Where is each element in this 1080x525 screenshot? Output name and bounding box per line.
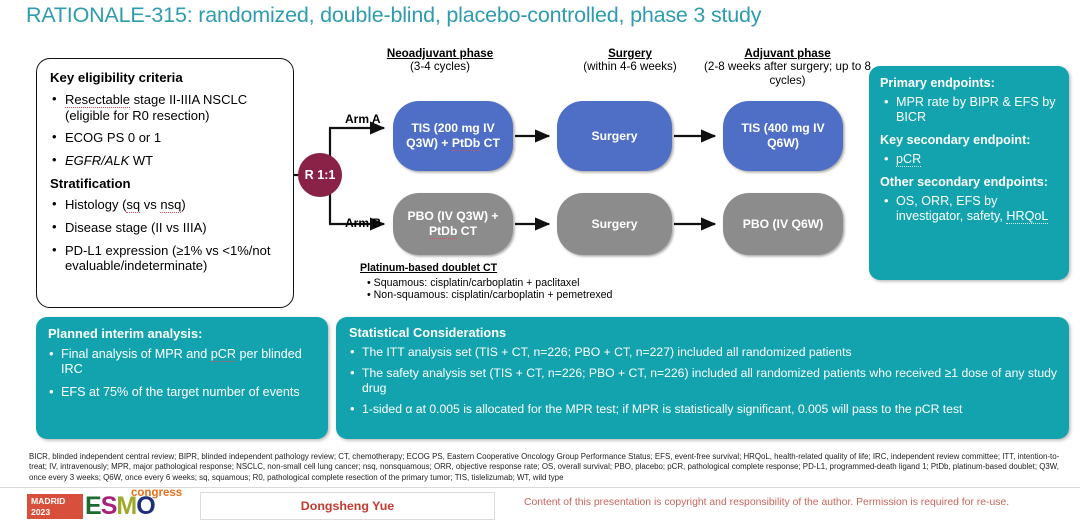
other-secondary-list: OS, ORR, EFS by investigator, safety, HR…	[880, 194, 1059, 224]
phase-header-adjuvant: Adjuvant phase (2-8 weeks after surgery;…	[700, 47, 875, 87]
eligibility-heading: Key eligibility criteria	[50, 70, 282, 85]
stratification-heading: Stratification	[50, 176, 282, 191]
primary-endpoints-list: MPR rate by BIPR & EFS by BICR	[880, 95, 1059, 125]
list-item: ECOG PS 0 or 1	[48, 130, 282, 146]
list-item: Final analysis of MPR and pCR per blinde…	[48, 347, 318, 378]
list-item: Resectable stage II-IIIA NSCLC (eligible…	[48, 92, 282, 123]
logo-congress-text: congress	[131, 487, 182, 499]
node-arm-b-neoadjuvant: PBO (IV Q3W) + PtDb CT	[393, 193, 513, 255]
list-item: EFS at 75% of the target number of event…	[48, 385, 318, 400]
key-secondary-heading: Key secondary endpoint:	[880, 133, 1059, 147]
phase-title: Surgery	[560, 47, 700, 60]
node-arm-b-surgery: Surgery	[557, 193, 672, 255]
statistics-list: The ITT analysis set (TIS + CT, n=226; P…	[349, 345, 1057, 417]
primary-endpoints-heading: Primary endpoints:	[880, 76, 1059, 90]
page-title: RATIONALE-315: randomized, double-blind,…	[26, 3, 761, 28]
esmo-congress-logo: MADRID 2023 ESMO congress	[27, 489, 177, 521]
arm-a-label: Arm A	[345, 112, 381, 126]
phase-subtitle: (within 4-6 weeks)	[560, 60, 700, 73]
endpoints-panel: Primary endpoints: MPR rate by BIPR & EF…	[869, 66, 1069, 280]
copyright-notice: Content of this presentation is copyrigh…	[524, 497, 1009, 508]
platinum-doublet-note: Platinum-based doublet CT Squamous: cisp…	[360, 262, 612, 302]
list-item: MPR rate by BIPR & EFS by BICR	[880, 95, 1059, 125]
phase-title: Neoadjuvant phase	[370, 47, 510, 60]
interim-list: Final analysis of MPR and pCR per blinde…	[48, 347, 318, 400]
key-secondary-list: pCR	[880, 152, 1059, 167]
randomization-node: R 1:1	[298, 153, 342, 197]
list-item: pCR	[880, 152, 1059, 167]
node-arm-a-neoadjuvant: TIS (200 mg IV Q3W) + PtDb CT	[393, 101, 513, 171]
statistical-considerations-panel: Statistical Considerations The ITT analy…	[336, 317, 1069, 439]
abbreviations-note: BICR, blinded independent central review…	[29, 452, 1061, 483]
other-secondary-heading: Other secondary endpoints:	[880, 175, 1059, 189]
platinum-doublet-item: Squamous: cisplatin/carboplatin + paclit…	[360, 277, 612, 290]
eligibility-criteria-box: Key eligibility criteria Resectable stag…	[36, 58, 294, 308]
list-item: Disease stage (II vs IIIA)	[48, 220, 282, 236]
list-item: OS, ORR, EFS by investigator, safety, HR…	[880, 194, 1059, 224]
phase-header-neoadjuvant: Neoadjuvant phase (3-4 cycles)	[370, 47, 510, 74]
node-arm-b-adjuvant: PBO (IV Q6W)	[723, 193, 843, 255]
phase-subtitle: (3-4 cycles)	[370, 60, 510, 73]
list-item: The safety analysis set (TIS + CT, n=226…	[349, 366, 1057, 396]
phase-subtitle: (2-8 weeks after surgery; up to 8 cycles…	[700, 60, 875, 87]
phase-title: Adjuvant phase	[700, 47, 875, 60]
node-arm-a-adjuvant: TIS (400 mg IV Q6W)	[723, 101, 843, 171]
node-arm-a-surgery: Surgery	[557, 101, 672, 171]
list-item: The ITT analysis set (TIS + CT, n=226; P…	[349, 345, 1057, 360]
phase-header-surgery: Surgery (within 4-6 weeks)	[560, 47, 700, 74]
list-item: 1-sided α at 0.005 is allocated for the …	[349, 402, 1057, 417]
presenter-name: Dongsheng Yue	[301, 499, 394, 513]
stratification-list: Histology (sq vs nsq) Disease stage (II …	[48, 197, 282, 273]
list-item: EGFR/ALK WT	[48, 153, 282, 169]
logo-letter-s: S	[101, 492, 117, 520]
platinum-doublet-item: Non-squamous: cisplatin/carboplatin + pe…	[360, 289, 612, 302]
arm-b-label: Arm B	[345, 216, 381, 230]
interim-analysis-panel: Planned interim analysis: Final analysis…	[36, 317, 328, 439]
logo-madrid-badge: MADRID 2023	[27, 494, 83, 519]
list-item: Histology (sq vs nsq)	[48, 197, 282, 213]
statistics-heading: Statistical Considerations	[349, 325, 1057, 340]
presenter-name-box: Dongsheng Yue	[200, 492, 495, 520]
logo-letter-e: E	[85, 492, 101, 520]
eligibility-list: Resectable stage II-IIIA NSCLC (eligible…	[48, 92, 282, 168]
list-item: PD-L1 expression (≥1% vs <1%/not evaluab…	[48, 243, 282, 274]
platinum-doublet-title: Platinum-based doublet CT	[360, 262, 612, 275]
slide-root: RATIONALE-315: randomized, double-blind,…	[0, 0, 1080, 525]
logo-year: 2023	[31, 507, 83, 518]
interim-heading: Planned interim analysis:	[48, 326, 318, 341]
logo-location: MADRID	[31, 496, 83, 507]
